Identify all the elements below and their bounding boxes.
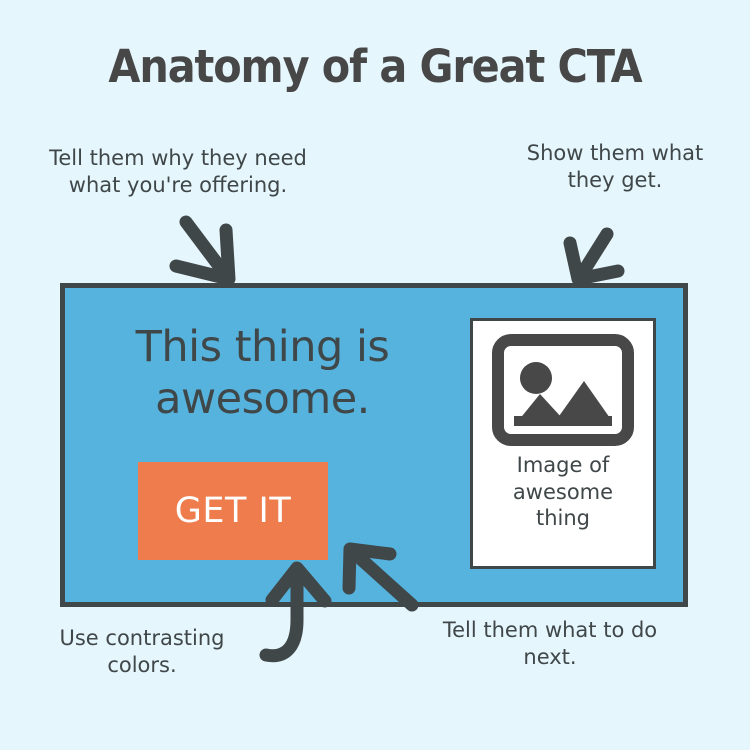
annotation-what-to-do-next: Tell them what to do next. <box>400 617 700 671</box>
annotation-show-what-they-get: Show them what they get. <box>490 140 740 194</box>
infographic-canvas: Anatomy of a Great CTA Tell them why the… <box>0 0 750 750</box>
arrow-down-right-icon <box>176 222 229 279</box>
image-placeholder-card: Image of awesome thing <box>470 318 656 569</box>
picture-placeholder-icon <box>492 334 634 446</box>
cta-box: This thing is awesome. GET IT Image of a… <box>60 283 688 607</box>
arrow-down-left-icon <box>570 234 618 279</box>
annotation-contrasting-colors: Use contrasting colors. <box>12 625 272 679</box>
get-it-button[interactable]: GET IT <box>138 462 328 560</box>
cta-copy-area: This thing is awesome. GET IT <box>65 288 460 602</box>
annotation-why-they-need: Tell them why they need what you're offe… <box>8 145 348 199</box>
image-placeholder-caption: Image of awesome thing <box>513 452 613 532</box>
cta-headline: This thing is awesome. <box>65 321 460 426</box>
page-title: Anatomy of a Great CTA <box>30 40 720 93</box>
